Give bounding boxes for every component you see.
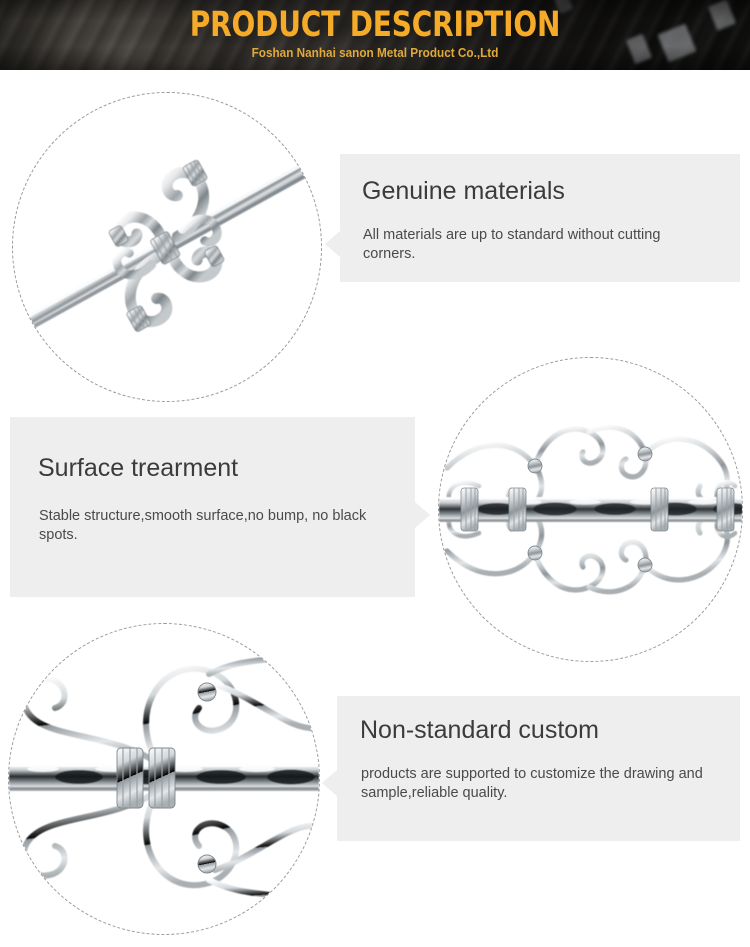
card-arrow-notch-right-icon xyxy=(415,502,430,528)
card-title: Non-standard custom xyxy=(360,716,599,745)
page-header-banner: PRODUCT DESCRIPTION Foshan Nanhai sanon … xyxy=(0,0,750,70)
card-title: Genuine materials xyxy=(362,177,565,206)
card-arrow-notch-left-icon xyxy=(325,231,340,257)
feature-card-surface-trearment: Surface trearment Stable structure,smoot… xyxy=(10,417,415,597)
photo-scroll-panel xyxy=(438,357,743,662)
scroll-panel-illustration xyxy=(439,358,742,661)
scroll-closeup-illustration xyxy=(9,624,319,934)
ornament-illustration xyxy=(13,93,321,401)
card-title: Surface trearment xyxy=(38,454,238,483)
photo-ornament-on-bar xyxy=(12,92,322,402)
card-body-text: All materials are up to standard without… xyxy=(363,226,713,264)
card-body-text: Stable structure,smooth surface,no bump,… xyxy=(39,507,394,545)
page-title: PRODUCT DESCRIPTION xyxy=(75,6,675,44)
feature-card-non-standard-custom: Non-standard custom products are support… xyxy=(337,696,740,841)
card-body-text: products are supported to customize the … xyxy=(361,765,711,803)
company-name: Foshan Nanhai sanon Metal Product Co.,Lt… xyxy=(23,46,728,60)
feature-card-genuine-materials: Genuine materials All materials are up t… xyxy=(340,154,740,282)
card-arrow-notch-left-icon xyxy=(322,770,337,796)
photo-scroll-closeup xyxy=(8,623,320,935)
